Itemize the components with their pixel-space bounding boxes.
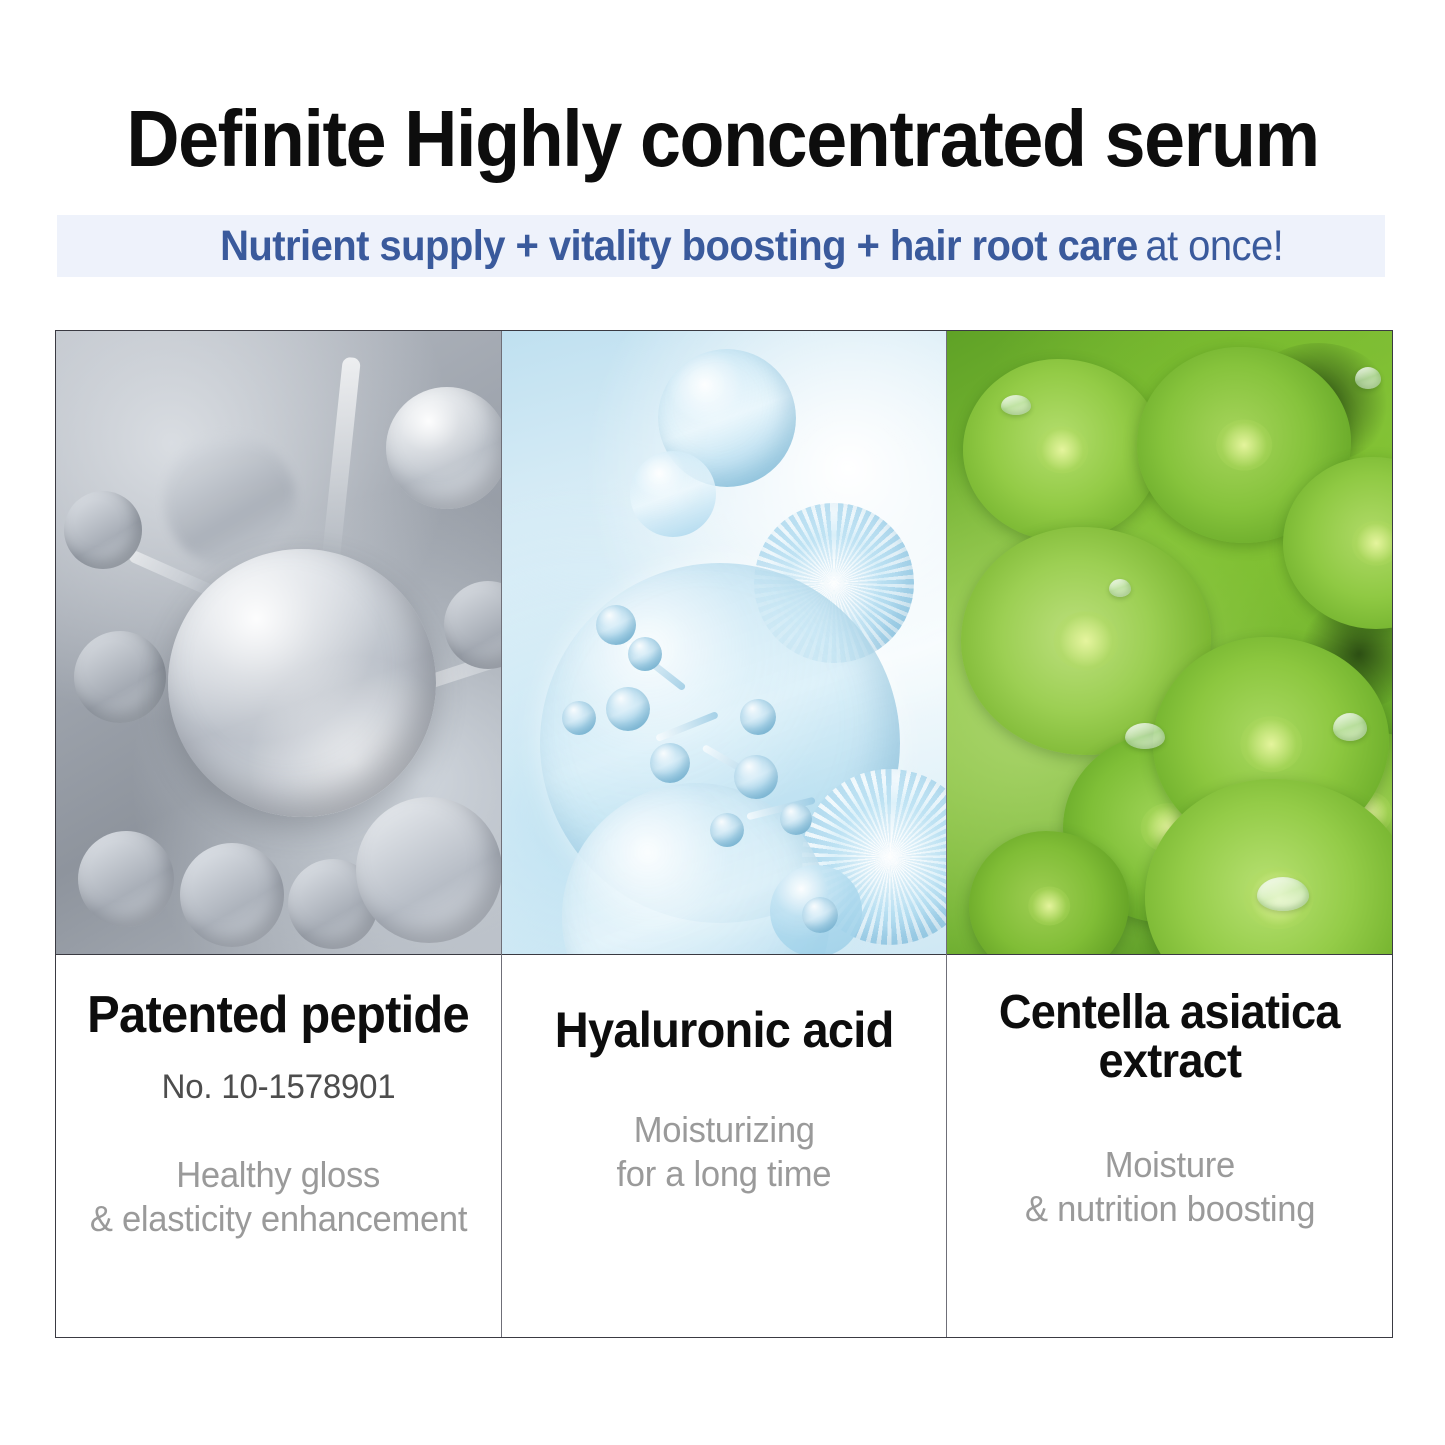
ingredient-caption: Hyaluronic acid Moisturizing for a long … (502, 955, 947, 1337)
ingredient-caption: Centella asiatica extract Moisture & nut… (947, 955, 1392, 1337)
molecule-sphere (164, 435, 296, 567)
ingredient-benefit-line-2: for a long time (617, 1152, 832, 1196)
molecule-node (628, 637, 662, 671)
ingredient-benefit-line-1: Healthy gloss (176, 1153, 380, 1197)
molecule-node (740, 699, 776, 735)
molecule-sphere (444, 581, 501, 669)
molecule-node (710, 813, 744, 847)
blue-water-bubbles-photo (502, 331, 947, 955)
page-title: Definite Highly concentrated serum (58, 96, 1387, 182)
ingredient-benefit-line-2: & elasticity enhancement (90, 1197, 467, 1241)
water-droplet (1109, 579, 1131, 597)
page-subtitle: Nutrient supply + vitality boosting + ha… (0, 215, 1445, 277)
ingredient-benefit-line-2: & nutrition boosting (1025, 1187, 1315, 1231)
molecule-sphere (64, 491, 142, 569)
molecule-bond (321, 357, 361, 568)
molecule-sphere-primary (168, 549, 436, 817)
molecule-node (734, 755, 778, 799)
subtitle-light-text: at once! (1137, 220, 1283, 272)
water-droplet (1355, 367, 1381, 389)
silver-molecule-spheres-photo (56, 331, 501, 955)
ingredient-title-line-1: Centella asiatica (999, 989, 1340, 1038)
water-droplet (1125, 723, 1165, 749)
water-bubble (630, 451, 716, 537)
molecule-node (802, 897, 838, 933)
molecule-node (596, 605, 636, 645)
water-droplet (1257, 877, 1309, 911)
ingredient-card-hyaluronic-acid: Hyaluronic acid Moisturizing for a long … (502, 331, 948, 1337)
molecule-sphere (356, 797, 501, 943)
molecule-node (780, 803, 812, 835)
centella-asiatica-leaves-photo (947, 331, 1392, 955)
molecule-node (650, 743, 690, 783)
ingredient-title-line-2: extract (1098, 1038, 1241, 1087)
molecule-node (606, 687, 650, 731)
subtitle-strong-text: Nutrient supply + vitality boosting + ha… (220, 220, 1138, 272)
ingredient-title: Hyaluronic acid (555, 1005, 894, 1056)
ingredient-benefit-line-1: Moisturizing (634, 1108, 815, 1152)
molecule-sphere (386, 387, 501, 509)
ingredient-benefit-line-1: Moisture (1105, 1143, 1235, 1187)
molecule-node (562, 701, 596, 735)
molecule-sphere (74, 631, 166, 723)
ingredient-title: Patented peptide (87, 989, 469, 1042)
centella-leaf (963, 359, 1161, 541)
molecule-sphere (78, 831, 174, 927)
ingredient-card-centella-asiatica: Centella asiatica extract Moisture & nut… (947, 331, 1392, 1337)
ingredient-caption: Patented peptide No. 10-1578901 Healthy … (56, 955, 501, 1337)
ingredient-card-patented-peptide: Patented peptide No. 10-1578901 Healthy … (56, 331, 502, 1337)
molecule-sphere (180, 843, 284, 947)
ingredient-patent-number: No. 10-1578901 (161, 1068, 395, 1107)
water-droplet (1333, 713, 1367, 741)
ingredient-grid: Patented peptide No. 10-1578901 Healthy … (55, 330, 1393, 1338)
water-droplet (1001, 395, 1031, 415)
